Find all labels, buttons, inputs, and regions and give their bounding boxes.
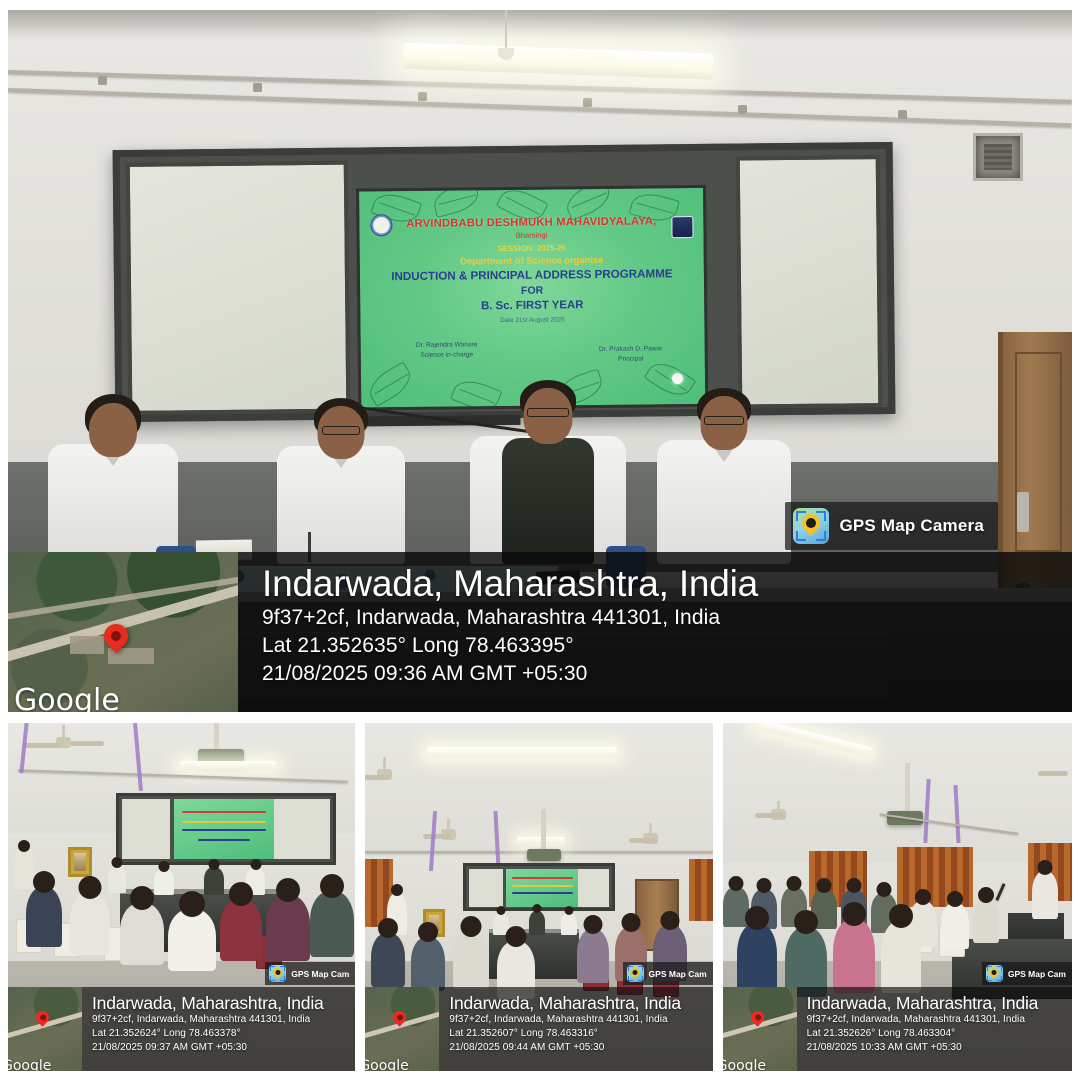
geotag-text-block: Indarwada, Maharashtra, India 9f37+2cf, … — [82, 987, 324, 1071]
eyeglasses-icon — [527, 408, 569, 417]
bracket-icon — [816, 531, 826, 541]
geotag-coordinates: Lat 21.352624° Long 78.463378° — [92, 1027, 324, 1041]
audience-person — [577, 929, 609, 983]
geotag-info-bar: Google Indarwada, Maharashtra, India 9f3… — [723, 987, 1072, 1071]
slide-department: Department of Science organise — [360, 253, 704, 268]
geotag-address: 9f37+2cf, Indarwada, Maharashtra 441301,… — [449, 1013, 681, 1027]
person-head — [391, 884, 403, 896]
geotag-info-bar: Google Indarwada, Maharashtra, India 9f3… — [8, 552, 1072, 712]
person-head — [112, 857, 123, 868]
standing-person — [14, 849, 34, 889]
person-head — [179, 891, 205, 917]
slide-line — [512, 885, 573, 887]
audience-person — [941, 903, 969, 949]
interactive-board — [116, 793, 336, 865]
board-white-panel-right — [272, 799, 330, 859]
bracket-icon — [796, 531, 806, 541]
person-nehru-jacket — [502, 438, 594, 564]
person-head — [461, 916, 482, 937]
person-head — [18, 840, 30, 852]
person-head — [947, 891, 963, 907]
map-thumbnail: Google — [723, 987, 797, 1071]
thumbnail-speaker-address-view[interactable]: GPS Map Cam Google Indarwada, Maharashtr… — [723, 723, 1072, 1071]
dais-person-2 — [276, 396, 406, 564]
person-head — [661, 911, 680, 930]
person-head — [786, 876, 801, 891]
geotag-info-bar: Google Indarwada, Maharashtra, India 9f3… — [365, 987, 712, 1071]
person-head — [745, 906, 769, 930]
dais-person — [204, 867, 224, 895]
person-head — [565, 906, 574, 915]
audience-person — [168, 909, 216, 971]
signatory-left-role: Science in-charge — [387, 350, 507, 361]
slide-college-name: ARVINDBABU DESHMUKH MAHAVIDYALAYA, — [359, 215, 703, 231]
audience-person — [26, 887, 62, 947]
person-head — [978, 887, 994, 903]
person-head — [250, 859, 261, 870]
gps-map-camera-icon — [269, 965, 286, 982]
person-torso — [657, 440, 791, 564]
gps-map-camera-icon — [793, 508, 829, 544]
person-head — [584, 915, 603, 934]
person-torso — [277, 446, 405, 564]
geotag-text-block: Indarwada, Maharashtra, India 9f37+2cf, … — [439, 987, 681, 1071]
audience-person — [120, 903, 164, 965]
presentation-slide — [506, 869, 578, 907]
gps-map-camera-watermark: GPS Map Cam — [623, 962, 713, 985]
watermark-label: GPS Map Cam — [649, 969, 707, 979]
geotag-address: 9f37+2cf, Indarwada, Maharashtra 441301,… — [262, 604, 758, 632]
slide-line — [182, 829, 266, 831]
person-head — [497, 906, 506, 915]
person-head — [276, 878, 300, 902]
person-head — [876, 882, 891, 897]
person-head — [846, 878, 861, 893]
dais-person — [561, 913, 577, 935]
wall-junction-box — [973, 133, 1023, 181]
fan-blade — [423, 834, 451, 839]
fan-blade — [70, 741, 104, 746]
projector-mount — [541, 809, 546, 849]
main-photo: ARVINDBABU DESHMUKH MAHAVIDYALAYA, Bhars… — [8, 10, 1072, 712]
bracket-icon — [280, 976, 285, 981]
thumbnail-row: GPS Map Cam Google Indarwada, Maharashtr… — [8, 723, 1072, 1071]
map-attribution: Google — [723, 1058, 766, 1071]
slide-line — [182, 811, 266, 813]
fan-blade — [365, 775, 389, 780]
board-white-panel-right — [575, 869, 609, 907]
slide-signatory-right: Dr. Prakash D. Pawar Principal — [571, 344, 691, 365]
presentation-slide: ARVINDBABU DESHMUKH MAHAVIDYALAYA, Bhars… — [356, 185, 708, 411]
wire-clip — [253, 83, 262, 92]
audience-person-front — [881, 921, 921, 993]
geotag-timestamp: 21/08/2025 10:33 AM GMT +05:30 — [807, 1041, 1039, 1055]
map-thumbnail: Google — [8, 552, 238, 712]
watermark-label: GPS Map Cam — [1008, 969, 1066, 979]
watermark-label: GPS Map Camera — [839, 516, 984, 536]
audience-person — [266, 895, 310, 961]
map-building — [70, 636, 104, 654]
speaker-person — [1032, 871, 1058, 919]
geotag-timestamp: 21/08/2025 09:37 AM GMT +05:30 — [92, 1041, 324, 1055]
wire-clip — [898, 110, 907, 119]
map-attribution: Google — [14, 683, 120, 712]
geotag-address: 9f37+2cf, Indarwada, Maharashtra 441301,… — [92, 1013, 324, 1027]
geotag-place: Indarwada, Maharashtra, India — [807, 994, 1039, 1013]
slide-for-label: FOR — [360, 283, 704, 299]
dais-person-3-principal — [468, 384, 628, 564]
dais-person — [154, 869, 174, 895]
thumbnail-hall-full-view[interactable]: GPS Map Cam Google Indarwada, Maharashtr… — [365, 723, 712, 1071]
audience-person-front — [737, 923, 777, 993]
person-head — [159, 861, 170, 872]
dais-person — [529, 911, 545, 935]
audience-person-front — [833, 919, 875, 993]
window-curtain — [689, 859, 713, 921]
fan-blade — [629, 838, 657, 843]
person-head — [794, 910, 818, 934]
gps-map-camera-icon — [986, 965, 1003, 982]
projector-mount — [905, 763, 910, 811]
map-thumbnail: Google — [365, 987, 439, 1071]
slide-college-place: Bharsingi — [359, 229, 703, 242]
projector — [527, 849, 561, 861]
bracket-icon — [638, 976, 643, 981]
geotag-place: Indarwada, Maharashtra, India — [262, 564, 758, 604]
geotag-coordinates: Lat 21.352635° Long 78.463395° — [262, 632, 758, 660]
dais-person — [108, 865, 126, 893]
map-thumbnail: Google — [8, 987, 82, 1071]
slide-line — [182, 821, 266, 823]
bracket-icon — [997, 976, 1002, 981]
geotag-coordinates: Lat 21.352607° Long 78.463316° — [449, 1027, 681, 1041]
framed-portrait — [68, 847, 92, 877]
pendant-cord — [505, 10, 507, 50]
geotag-timestamp: 21/08/2025 09:36 AM GMT +05:30 — [262, 660, 758, 688]
fan-blade — [24, 743, 60, 748]
person-head — [378, 918, 398, 938]
board-white-panel-left — [122, 799, 170, 859]
person-head — [889, 904, 913, 928]
person-head — [915, 889, 931, 905]
person-head — [33, 871, 55, 893]
wire-clip — [738, 105, 747, 114]
tube-light — [427, 747, 617, 758]
slide-programme-title: INDUCTION & PRINCIPAL ADDRESS PROGRAMME — [360, 267, 704, 284]
interactive-board: ARVINDBABU DESHMUKH MAHAVIDYALAYA, Bhars… — [113, 142, 896, 422]
person-head — [130, 886, 154, 910]
geotag-place: Indarwada, Maharashtra, India — [449, 994, 681, 1013]
person-head — [320, 874, 344, 898]
person-head — [842, 902, 866, 926]
geotag-coordinates: Lat 21.352626° Long 78.463304° — [807, 1027, 1039, 1041]
board-white-panel-right — [736, 155, 883, 408]
slide-class: B. Sc. FIRST YEAR — [360, 298, 704, 314]
map-attribution: Google — [365, 1058, 408, 1071]
ceiling-shadow — [8, 10, 1072, 40]
fan-blade — [1038, 771, 1068, 776]
dais-person-4 — [656, 390, 792, 564]
board-white-panel-left — [469, 869, 503, 907]
watermark-label: GPS Map Cam — [291, 969, 349, 979]
person-head — [79, 876, 102, 899]
wire-clip — [583, 98, 592, 107]
geotag-place: Indarwada, Maharashtra, India — [92, 994, 324, 1013]
person-head — [728, 876, 743, 891]
projector-mount — [214, 723, 219, 749]
geotag-timestamp: 21/08/2025 09:44 AM GMT +05:30 — [449, 1041, 681, 1055]
audience-person — [973, 899, 999, 943]
geotag-address: 9f37+2cf, Indarwada, Maharashtra 441301,… — [807, 1013, 1039, 1027]
tube-light — [180, 761, 276, 770]
person-head — [533, 904, 542, 913]
person-head — [209, 859, 220, 870]
wire-clip — [418, 92, 427, 101]
audience-person — [411, 937, 445, 991]
slide-line — [512, 892, 573, 894]
eyeglasses-icon — [704, 416, 744, 425]
projector-hotspot — [672, 373, 683, 384]
slide-line — [198, 839, 250, 841]
audience-person — [453, 931, 489, 989]
geotag-text-block: Indarwada, Maharashtra, India 9f37+2cf, … — [238, 552, 758, 712]
board-white-panel-left — [126, 161, 351, 415]
slide-line — [512, 877, 573, 879]
gps-map-camera-watermark: GPS Map Camera — [785, 502, 998, 550]
presentation-slide — [174, 799, 274, 859]
signatory-right-role: Principal — [571, 354, 691, 365]
slide-signatory-left: Dr. Rajendra Wanare Science in-charge — [387, 340, 507, 361]
audience-person — [310, 891, 354, 957]
gps-map-camera-watermark: GPS Map Cam — [982, 962, 1072, 985]
photo-collage: ARVINDBABU DESHMUKH MAHAVIDYALAYA, Bhars… — [0, 0, 1080, 1080]
gps-map-camera-watermark: GPS Map Cam — [265, 962, 355, 985]
person-head — [816, 878, 831, 893]
person-head — [89, 403, 137, 457]
person-head — [229, 882, 253, 906]
audience-person — [220, 899, 262, 961]
bracket-icon — [270, 976, 275, 981]
eyeglasses-icon — [322, 426, 360, 435]
fan-blade — [755, 813, 783, 818]
person-head — [622, 913, 641, 932]
thumbnail-audience-wide-view[interactable]: GPS Map Cam Google Indarwada, Maharashtr… — [8, 723, 355, 1071]
audience-person — [70, 893, 110, 955]
leaf-motif — [431, 185, 482, 218]
map-attribution: Google — [8, 1058, 51, 1071]
geotag-text-block: Indarwada, Maharashtra, India 9f37+2cf, … — [797, 987, 1039, 1071]
gps-map-camera-icon — [627, 965, 644, 982]
person-head — [506, 926, 527, 947]
audience-person — [371, 933, 405, 987]
person-head — [756, 878, 771, 893]
person-head — [1037, 860, 1052, 875]
wire-clip — [98, 76, 107, 85]
slide-date: Date 21st August 2025 — [360, 315, 704, 326]
person-head — [418, 922, 438, 942]
bracket-icon — [628, 976, 633, 981]
door-latch — [1017, 492, 1029, 532]
dais-person-1 — [48, 394, 178, 564]
geotag-info-bar: Google Indarwada, Maharashtra, India 9f3… — [8, 987, 355, 1071]
